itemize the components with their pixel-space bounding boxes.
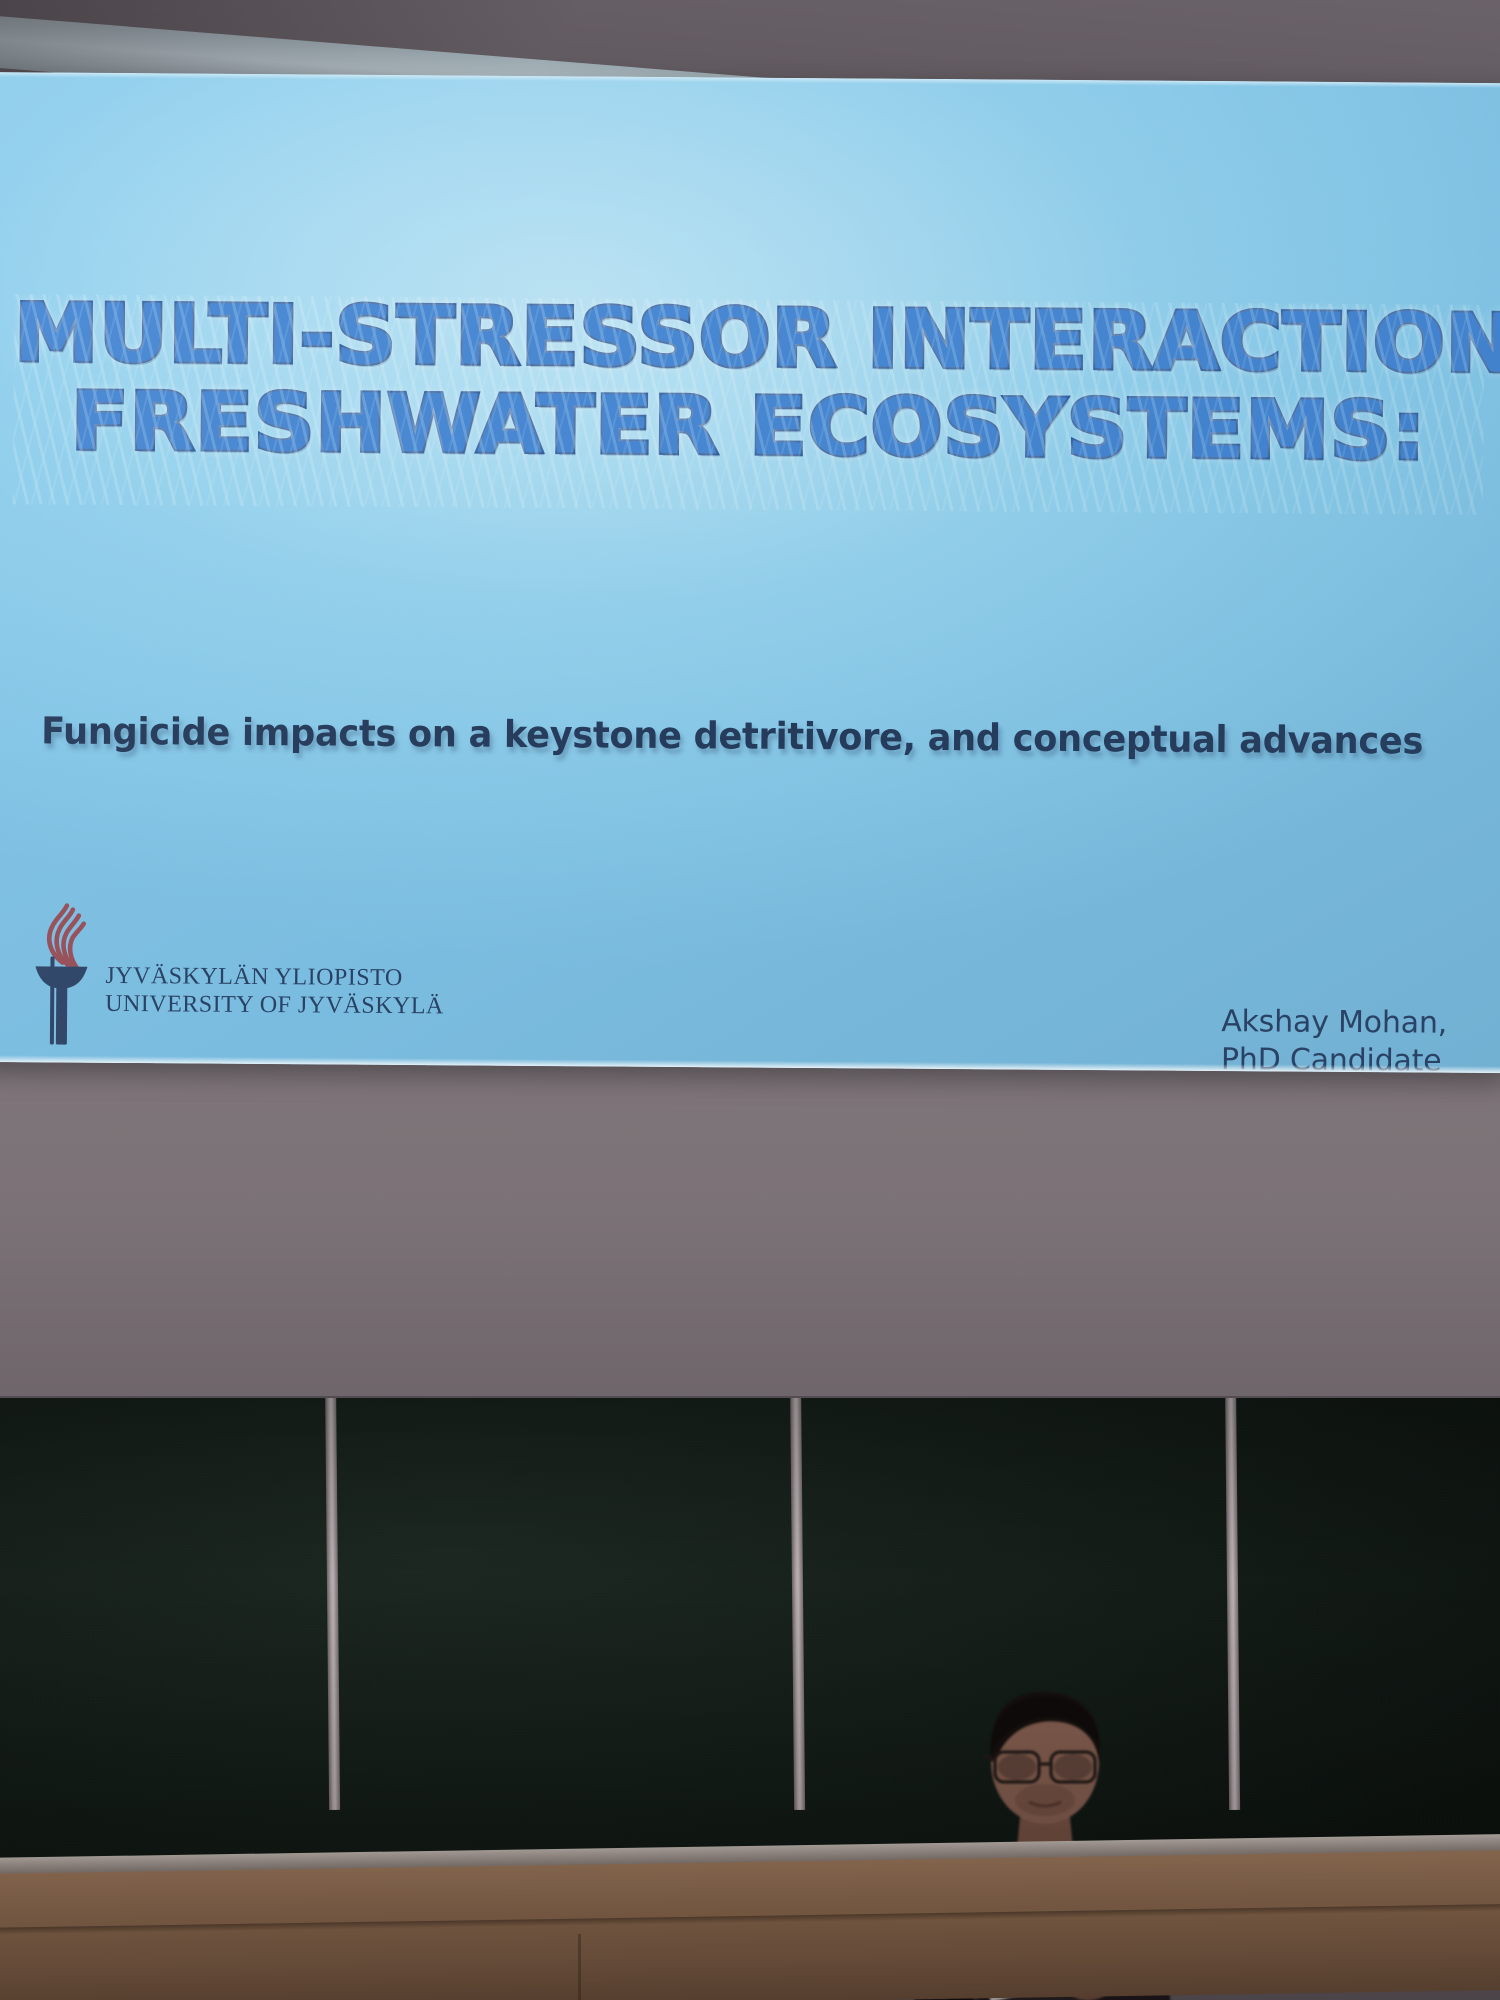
slide-title: MULTI-STRESSOR INTERACTIONS IN FRESHWATE…	[13, 294, 1484, 472]
ledge-seam	[578, 1934, 581, 2000]
university-logo-text: JYVÄSKYLÄN YLIOPISTO UNIVERSITY OF JYVÄS…	[105, 963, 444, 1049]
blackboard	[0, 1398, 1500, 1898]
university-logo: JYVÄSKYLÄN YLIOPISTO UNIVERSITY OF JYVÄS…	[29, 900, 445, 1049]
projection-screen: MULTI-STRESSOR INTERACTIONS IN FRESHWATE…	[0, 72, 1500, 1073]
presenter-credit: Akshay Mohan, PhD Candidate	[1221, 1003, 1447, 1073]
slide-content: MULTI-STRESSOR INTERACTIONS IN FRESHWATE…	[0, 72, 1500, 1073]
title-line-2: FRESHWATER ECOSYSTEMS:	[0, 382, 1500, 472]
blackboard-texture	[0, 1398, 1500, 1878]
logo-line-fi: JYVÄSKYLÄN YLIOPISTO	[105, 963, 444, 993]
lecture-hall-photo: MULTI-STRESSOR INTERACTIONS IN FRESHWATE…	[0, 0, 1500, 2000]
logo-line-en: UNIVERSITY OF JYVÄSKYLÄ	[105, 991, 444, 1021]
title-line-1: MULTI-STRESSOR INTERACTIONS IN	[14, 294, 1500, 384]
torch-icon	[29, 900, 94, 1046]
slide-subtitle: Fungicide impacts on a keystone detritiv…	[41, 709, 1390, 762]
blackboard-surface	[0, 1398, 1500, 1878]
presenter-name: Akshay Mohan,	[1221, 1003, 1447, 1042]
